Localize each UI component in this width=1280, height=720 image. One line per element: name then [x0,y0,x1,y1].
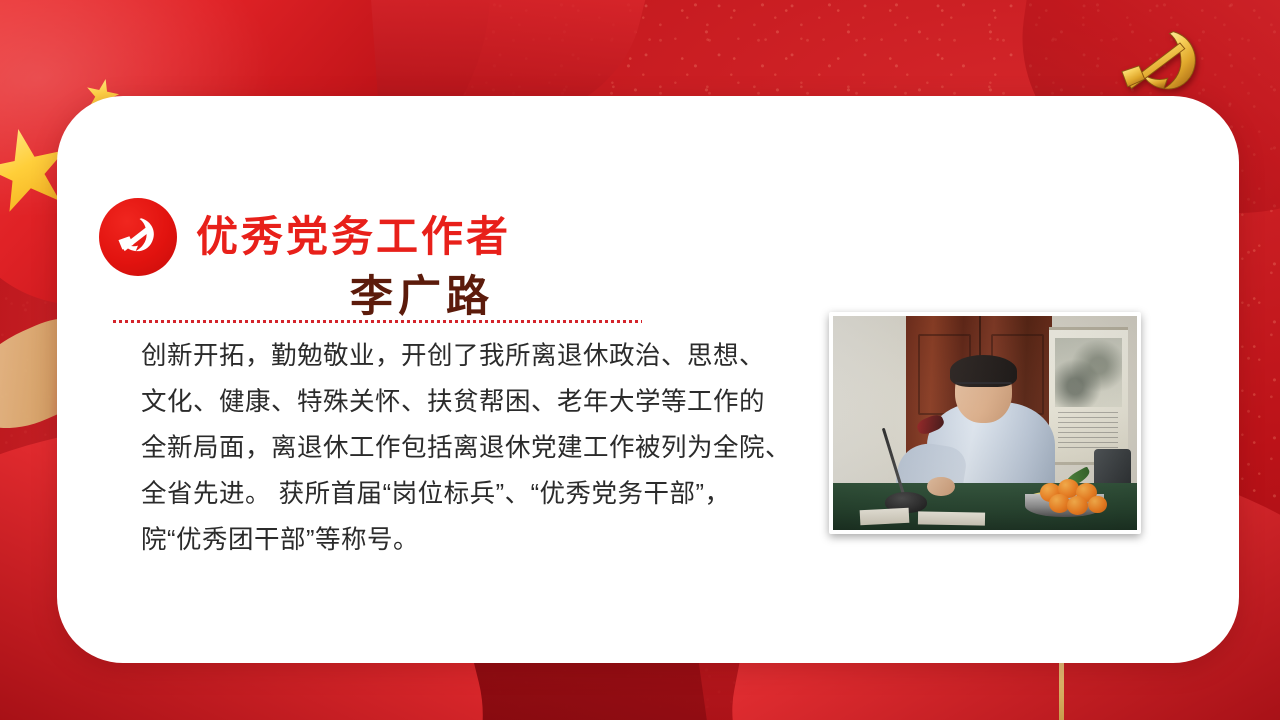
person-name: 李广路 [350,262,494,324]
body-paragraph: 创新开拓，勤勉敬业，开创了我所离退休政治、思想、 文化、健康、特殊关怀、扶贫帮困… [141,333,841,563]
party-emblem-gold-icon [1112,24,1208,102]
slide-root: 优秀党务工作者 李广路 创新开拓，勤勉敬业，开创了我所离退休政治、思想、 文化、… [0,0,1280,720]
person-photo [833,316,1137,530]
page-title: 优秀党务工作者 [196,203,511,264]
body-line: 全新局面，离退休工作包括离退休党建工作被列为全院、 [141,425,841,471]
dotted-divider [113,320,642,323]
photo-vignette [833,316,1137,530]
person-photo-frame [829,312,1141,534]
body-line: 创新开拓，勤勉敬业，开创了我所离退休政治、思想、 [141,333,841,379]
body-line: 全省先进。 获所首届“岗位标兵”、“优秀党务干部”， [141,471,841,517]
body-line: 文化、健康、特殊关怀、扶贫帮困、老年大学等工作的 [141,379,841,425]
hammer-sickle-badge [99,198,177,276]
hammer-sickle-icon [113,212,163,262]
body-line: 院“优秀团干部”等称号。 [141,517,841,563]
